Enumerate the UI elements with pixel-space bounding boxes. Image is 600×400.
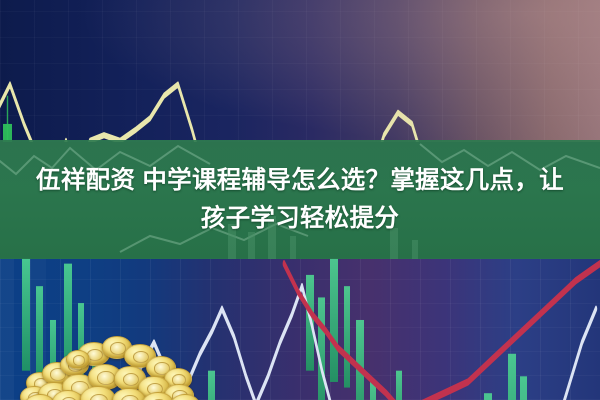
headline-line-2: 孩子学习轻松提分 (201, 200, 399, 238)
page-title: 伍祥配资 中学课程辅导怎么选？掌握这几点，让 孩子学习轻松提分 (0, 140, 600, 259)
headline-band: 伍祥配资 中学课程辅导怎么选？掌握这几点，让 孩子学习轻松提分 (0, 140, 600, 259)
gold-coin-pile (18, 332, 208, 400)
upper-market-chart-panel (0, 0, 600, 142)
banner-image: 伍祥配资 中学课程辅导怎么选？掌握这几点，让 孩子学习轻松提分 (0, 0, 600, 400)
headline-line-1: 伍祥配资 中学课程辅导怎么选？掌握这几点，让 (36, 162, 564, 200)
upper-panel-glow (0, 0, 600, 142)
coin (66, 350, 90, 369)
